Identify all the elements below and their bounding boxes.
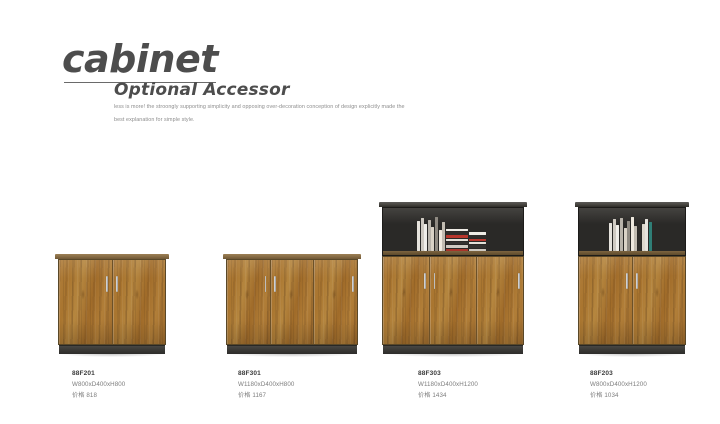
book-cover — [446, 242, 468, 245]
cabinet-doors[interactable] — [578, 256, 686, 345]
cabinet-door[interactable] — [271, 260, 315, 344]
book-cover — [446, 229, 468, 232]
book-spine — [428, 220, 431, 251]
cabinet-doors[interactable] — [382, 256, 524, 345]
product-caption: 88F303W1180xD400xH1200价格 1434 — [418, 370, 478, 400]
book-cover — [469, 242, 486, 245]
book-spine — [624, 228, 627, 251]
cabinet-plinth — [59, 345, 165, 354]
book-cover — [469, 239, 486, 242]
book-cover — [446, 245, 468, 248]
cabinet-plinth — [579, 345, 685, 354]
cabinet-body — [58, 254, 166, 354]
cabinet-door[interactable] — [59, 260, 113, 344]
shelf-floor — [383, 251, 523, 255]
door-handle[interactable] — [518, 273, 520, 289]
cabinet-image[interactable] — [58, 254, 166, 354]
door-handle[interactable] — [626, 273, 628, 289]
product-caption: 88F203W800xD400xH1200价格 1034 — [590, 370, 647, 400]
cabinet-door[interactable] — [430, 257, 477, 344]
product-caption: 88F301W1180xD400xH800价格 1167 — [238, 370, 294, 400]
cabinet-doors[interactable] — [58, 259, 166, 345]
book-spine — [435, 217, 438, 251]
page-subtitle: Optional Accessor — [114, 80, 290, 100]
book-spine — [638, 220, 641, 251]
cabinet-door[interactable] — [633, 257, 686, 344]
cabinet-body — [578, 202, 686, 354]
book-cover — [469, 245, 486, 248]
book-spine — [439, 230, 442, 251]
books-decoration — [417, 217, 487, 251]
product-dimensions: W800xD400xH800 — [72, 382, 125, 389]
cabinet-door[interactable] — [477, 257, 523, 344]
book-spine — [424, 224, 427, 251]
book-spine — [431, 227, 434, 251]
book-cover — [469, 232, 486, 235]
door-handle[interactable] — [116, 276, 118, 292]
cabinet-image[interactable] — [226, 254, 358, 354]
product-price: 价格 1434 — [418, 393, 478, 400]
book-spine — [634, 226, 637, 251]
book-spine — [616, 225, 619, 251]
book-cover — [469, 235, 486, 238]
cabinet-plinth — [227, 345, 357, 354]
cabinet-image[interactable] — [578, 202, 686, 354]
product-code: 88F303 — [418, 370, 478, 377]
cabinet-shadow — [60, 354, 164, 357]
cabinet-door[interactable] — [383, 257, 430, 344]
book-cover — [446, 239, 468, 242]
product-code: 88F201 — [72, 370, 125, 377]
book-stack — [469, 231, 486, 251]
cabinet-shadow — [228, 354, 356, 357]
product-price: 价格 1034 — [590, 393, 647, 400]
book-cover — [446, 235, 468, 238]
book-spine — [442, 222, 445, 251]
product-list: 88F201W800xD400xH800价格 81888F301W1180xD4… — [0, 170, 720, 400]
cabinet-door[interactable] — [579, 257, 633, 344]
page-title: cabinet — [62, 40, 218, 78]
product-dimensions: W1180xD400xH1200 — [418, 382, 478, 389]
product-caption: 88F201W800xD400xH800价格 818 — [72, 370, 125, 400]
product-dimensions: W800xD400xH1200 — [590, 382, 647, 389]
book-spine — [609, 223, 612, 251]
books-decoration — [609, 217, 652, 251]
door-handle[interactable] — [106, 276, 108, 292]
book-spine — [631, 217, 634, 251]
door-handle[interactable] — [636, 273, 638, 289]
cabinet-door[interactable] — [227, 260, 271, 344]
door-handle[interactable] — [352, 276, 354, 292]
cabinet-plinth — [383, 345, 523, 354]
product-price: 价格 818 — [72, 393, 125, 400]
cabinet-body — [382, 202, 524, 354]
product-code: 88F301 — [238, 370, 294, 377]
shelf-floor — [579, 251, 685, 255]
book-spine — [620, 218, 623, 251]
door-handle[interactable] — [265, 276, 267, 292]
book-cover — [446, 232, 468, 235]
cabinet-shadow — [384, 354, 522, 357]
page-description: less is more! the stroongly supporting s… — [114, 101, 414, 127]
cabinet-door[interactable] — [314, 260, 357, 344]
cabinet-body — [226, 254, 358, 354]
door-handle[interactable] — [424, 273, 426, 289]
product-dimensions: W1180xD400xH800 — [238, 382, 294, 389]
door-handle[interactable] — [434, 273, 436, 289]
book-spine — [627, 221, 630, 251]
open-display-shelf — [578, 207, 686, 256]
book-spine — [421, 218, 424, 251]
book-stack — [446, 228, 468, 251]
page-header: cabinet Optional Accessor less is more! … — [62, 40, 218, 78]
book-spine — [642, 224, 645, 251]
book-spine — [613, 219, 616, 251]
cabinet-door[interactable] — [113, 260, 166, 344]
cabinet-image[interactable] — [382, 202, 524, 354]
door-handle[interactable] — [274, 276, 276, 292]
book-spine — [645, 219, 648, 251]
book-spine — [649, 222, 652, 251]
cabinet-doors[interactable] — [226, 259, 358, 345]
product-code: 88F203 — [590, 370, 647, 377]
open-display-shelf — [382, 207, 524, 256]
cabinet-shadow — [580, 354, 684, 357]
title-wrap: cabinet — [62, 40, 218, 78]
book-spine — [417, 221, 420, 251]
product-price: 价格 1167 — [238, 393, 294, 400]
